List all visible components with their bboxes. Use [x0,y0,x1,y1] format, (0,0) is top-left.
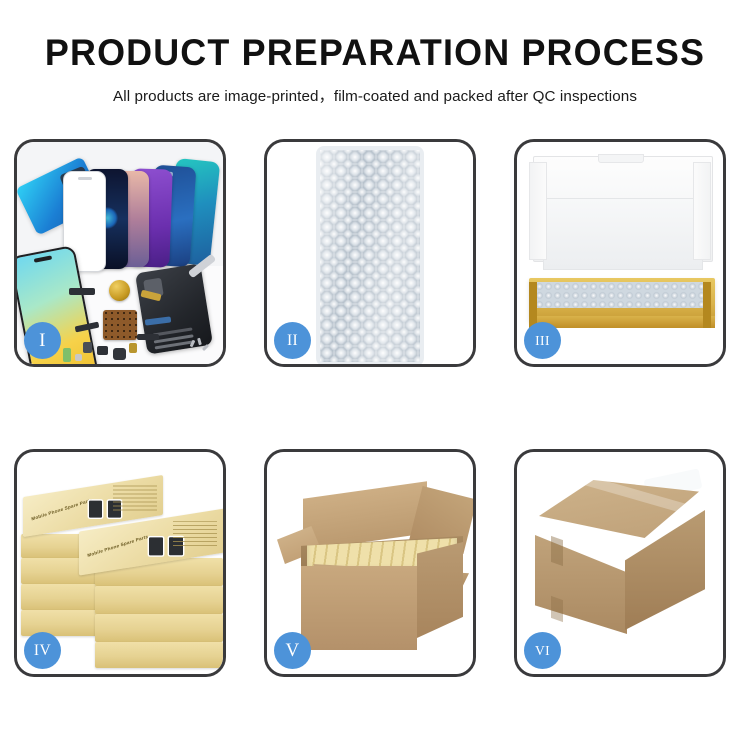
retail-box [95,614,223,642]
step-numeral: VI [535,644,550,658]
step-badge-4: IV [24,632,61,669]
carton-front-face [301,566,417,650]
box-corner-left [529,282,537,328]
box-art-screen [149,537,163,555]
box-art-screen [89,501,102,518]
small-component [129,343,137,353]
step-panel-1: I [14,139,226,367]
step-badge-2: II [274,322,311,359]
screws-group [189,338,213,356]
process-steps-grid: I II [14,139,736,677]
step-numeral: II [287,333,298,349]
page-title: PRODUCT PREPARATION PROCESS [11,34,739,73]
step-numeral: I [39,331,46,350]
step-panel-4: Mobile Phone Spare Parts Mobile Phone Sp… [14,449,226,677]
box-label-text: Mobile Phone Spare Parts [31,497,93,521]
flex-cable-part [69,288,95,295]
small-component [75,354,82,361]
box-lid-tab [598,154,644,163]
chip-array-part [103,310,137,340]
box-corner-right [703,282,711,328]
step-badge-6: VI [524,632,561,669]
box-front-edge [529,316,715,328]
carton-tape-upper [551,536,563,566]
page-subtitle: All products are image-printed，film-coat… [0,84,750,106]
box-label-text: Mobile Phone Spare Parts [87,534,149,558]
small-component [83,342,92,353]
retail-box [95,642,223,668]
carton-front-face [535,524,627,634]
step-panel-2: II [264,139,476,367]
copper-coil-part [109,280,130,301]
carton-tape-lower [551,596,563,622]
step-badge-1: I [24,322,61,359]
step-panel-5: V [264,449,476,677]
step-numeral: III [535,334,550,348]
retail-box [95,586,223,614]
battery-part [63,348,71,362]
bubble-wrap-sleeve [320,150,420,362]
step-badge-3: III [524,322,561,359]
step-numeral: V [285,641,299,660]
step-panel-3: III [514,139,726,367]
box-flap-left [529,162,547,260]
small-component [97,346,108,355]
header: PRODUCT PREPARATION PROCESS All products… [0,0,750,106]
box-spec-lines [173,521,217,547]
flex-cable-part [137,334,159,340]
box-flap-right [693,162,711,260]
bubble-wrapped-contents [535,282,709,308]
small-component [113,348,126,360]
step-badge-5: V [274,632,311,669]
box-inner-liner [543,198,703,270]
step-numeral: IV [34,643,51,659]
product-preparation-infographic: PRODUCT PREPARATION PROCESS All products… [0,0,750,750]
carton-side-face [417,542,463,638]
box-spec-lines [113,485,157,511]
step-panel-6: VI [514,449,726,677]
